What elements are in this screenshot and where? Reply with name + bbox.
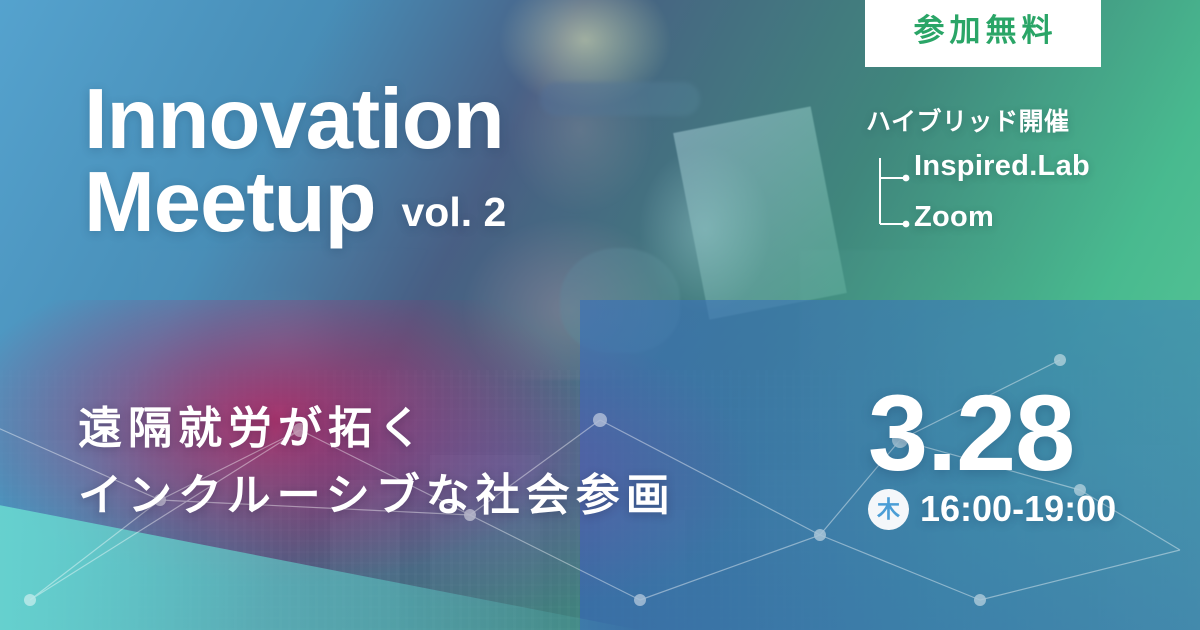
- title-row-2: Meetup vol. 2: [84, 161, 506, 244]
- title-line-1: Innovation: [84, 78, 506, 161]
- volume-label: vol. 2: [402, 192, 507, 233]
- date-block: 3.28 木 16:00-19:00: [868, 382, 1116, 530]
- subtitle-block: 遠隔就労が拓く インクルーシブな社会参画: [78, 396, 676, 530]
- day-of-week-badge: 木: [868, 489, 909, 530]
- hybrid-info-block: ハイブリッド開催 Inspired.Lab Zoom: [866, 107, 1166, 232]
- subtitle-line-2: インクルーシブな社会参画: [78, 463, 676, 530]
- event-time: 16:00-19:00: [920, 491, 1116, 527]
- free-participation-label: 参加無料: [909, 15, 1058, 46]
- venue-item-1: Inspired.Lab: [914, 152, 1166, 181]
- time-row: 木 16:00-19:00: [868, 489, 1116, 530]
- subtitle-line-1: 遠隔就労が拓く: [78, 396, 676, 463]
- venue-list: Inspired.Lab Zoom: [866, 152, 1166, 232]
- title-block: Innovation Meetup vol. 2: [84, 78, 506, 245]
- venue-item-2: Zoom: [914, 203, 1166, 232]
- event-banner: 参加無料 Innovation Meetup vol. 2 遠隔就労が拓く イン…: [0, 0, 1200, 630]
- free-participation-badge: 参加無料: [865, 0, 1101, 67]
- tree-branch-icon: [877, 158, 919, 232]
- hybrid-heading: ハイブリッド開催: [866, 107, 1166, 138]
- title-line-2: Meetup: [84, 161, 376, 244]
- event-date: 3.28: [868, 382, 1116, 485]
